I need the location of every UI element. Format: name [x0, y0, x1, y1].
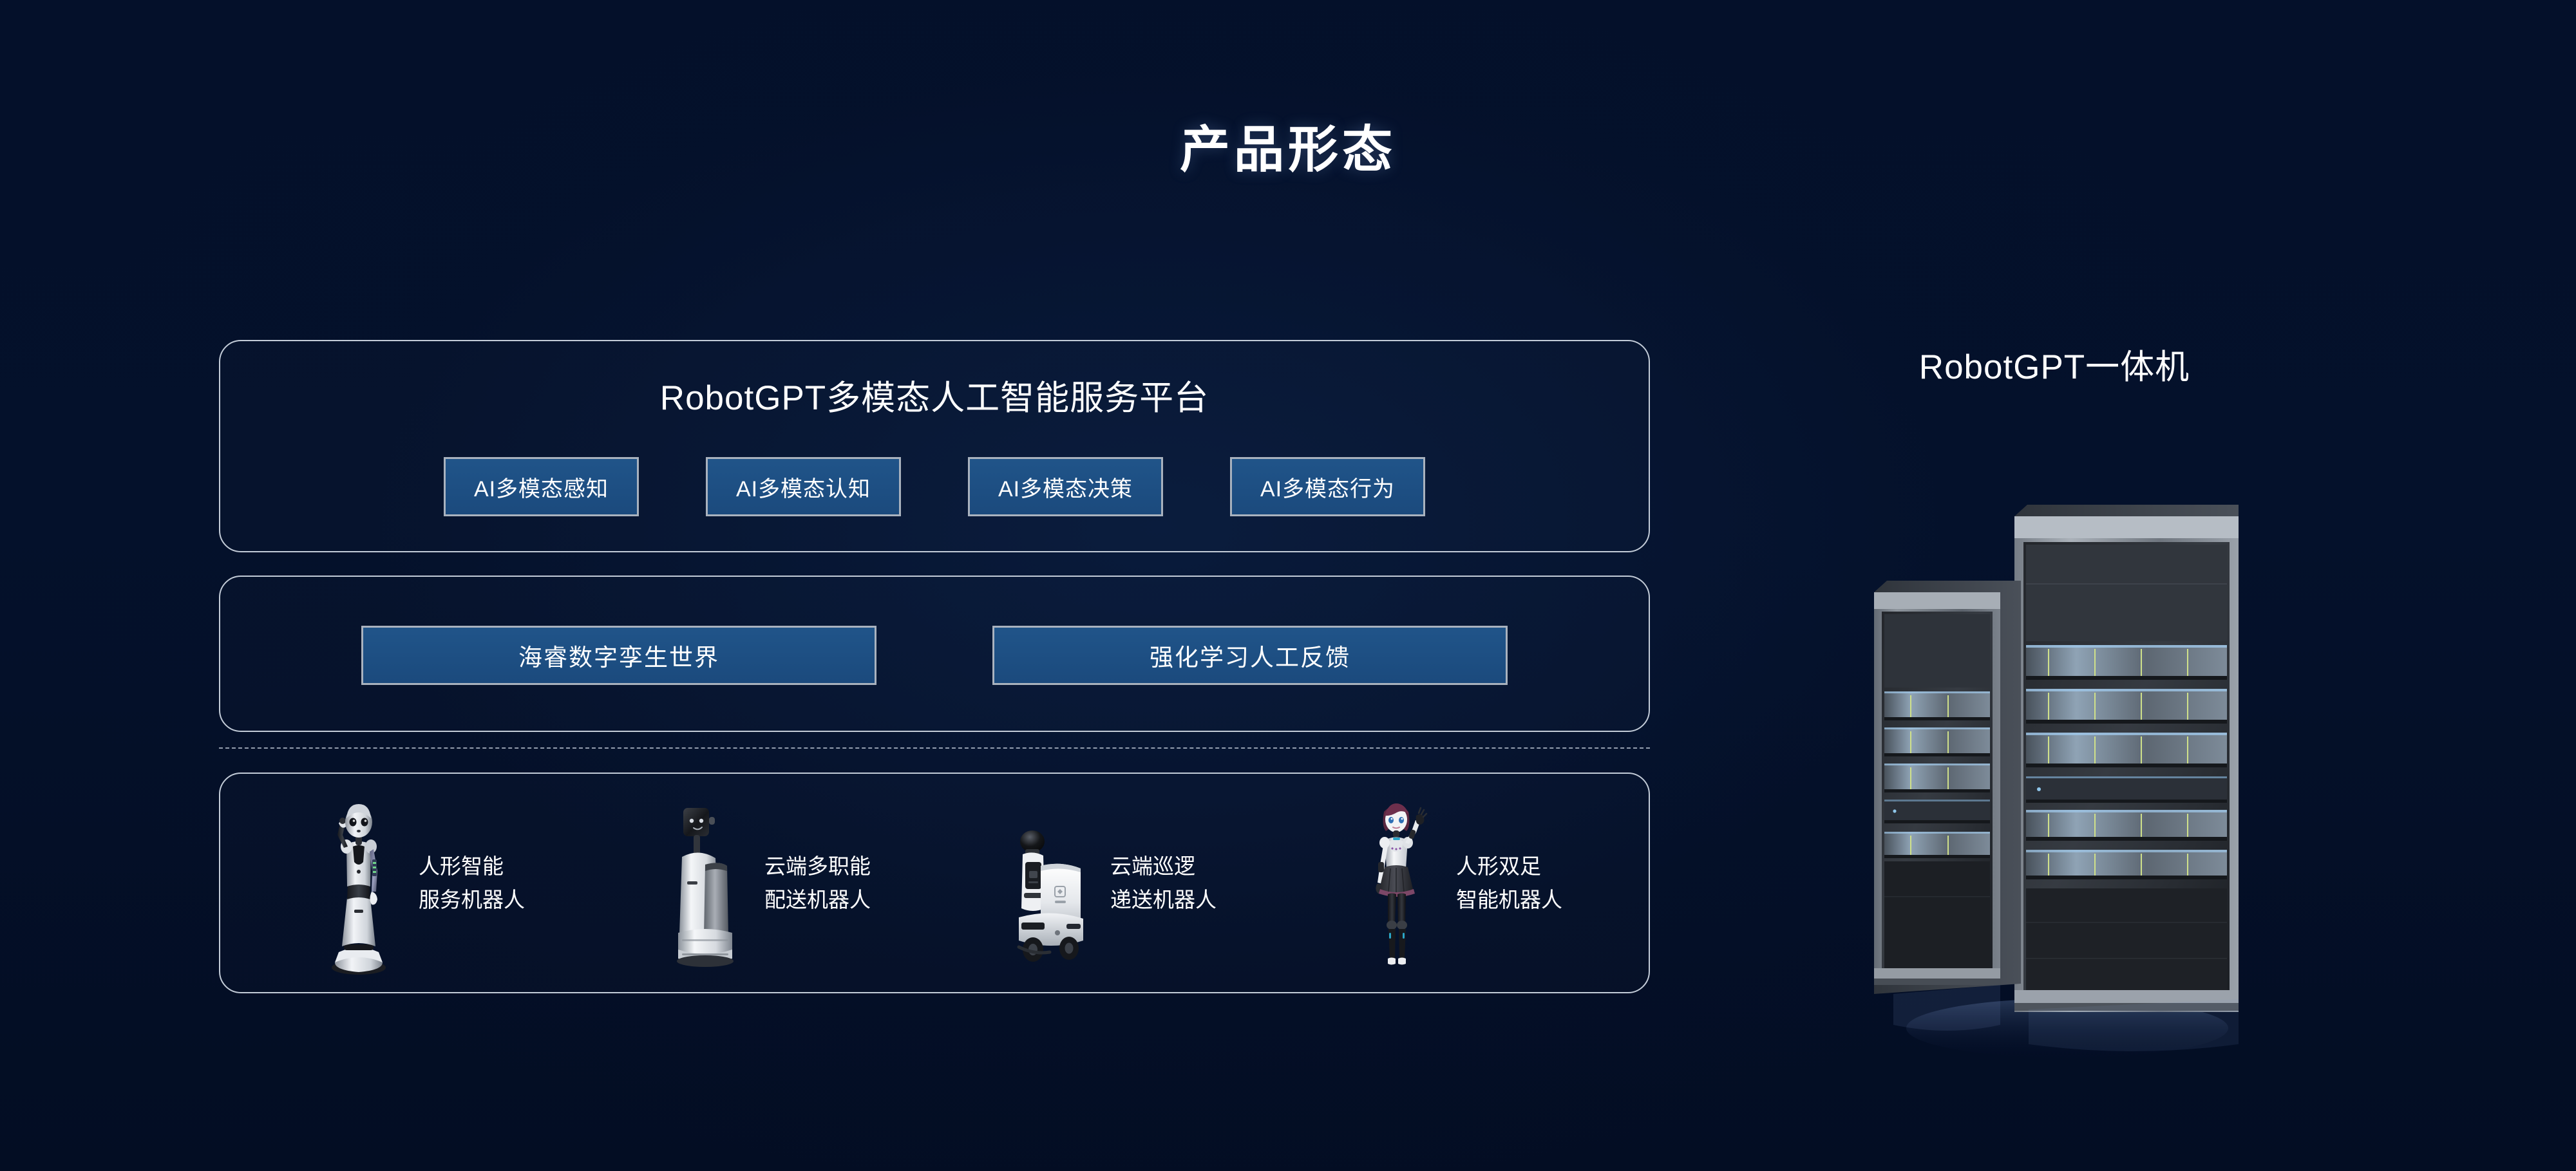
platform-stack: RobotGPT多模态人工智能服务平台 AI多模态感知 AI多模态认知 AI多模…: [219, 340, 1650, 993]
capability-chip-perception[interactable]: AI多模态感知: [444, 457, 639, 516]
humanoid-service-robot-icon: [310, 790, 407, 977]
product-caption: 云端多职能 配送机器人: [764, 850, 871, 915]
server-rack-short: [1874, 581, 2021, 994]
product-caption-line1: 云端多职能: [764, 850, 871, 883]
product-caption: 云端巡逻 递送机器人: [1110, 850, 1217, 915]
product-caption-line1: 云端巡逻: [1110, 850, 1217, 883]
page-title: 产品形态: [0, 109, 2576, 182]
slide-canvas: 产品形态 RobotGPT多模态人工智能服务平台 AI多模态感知 AI多模态认知…: [0, 0, 2576, 1171]
product-caption-line2: 配送机器人: [764, 883, 871, 916]
product-item-patrol-delivery[interactable]: 云端巡逻 递送机器人: [1002, 790, 1303, 977]
capability-chip-cognition[interactable]: AI多模态认知: [706, 457, 901, 516]
product-item-humanoid-service[interactable]: 人形智能 服务机器人: [310, 790, 611, 977]
server-rack-tall: [2014, 505, 2239, 1012]
product-caption-line2: 递送机器人: [1110, 883, 1217, 916]
product-item-bipedal-android[interactable]: 人形双足 智能机器人: [1348, 790, 1649, 977]
appliance-column: RobotGPT一体机: [1855, 340, 2370, 1076]
product-caption: 人形智能 服务机器人: [419, 850, 525, 915]
capability-chip-row: AI多模态感知 AI多模态认知 AI多模态决策 AI多模态行为: [220, 457, 1649, 516]
section-divider: [219, 747, 1650, 749]
product-item-cloud-delivery[interactable]: 云端多职能 配送机器人: [656, 790, 957, 977]
patrol-delivery-vehicle-icon: [1002, 790, 1099, 977]
platform-title: RobotGPT多模态人工智能服务平台: [220, 371, 1649, 420]
cloud-delivery-robot-icon: [656, 790, 753, 977]
product-caption: 人形双足 智能机器人: [1456, 850, 1562, 915]
bipedal-android-robot-icon: [1348, 790, 1444, 977]
capability-chip-behavior[interactable]: AI多模态行为: [1230, 457, 1425, 516]
foundation-panel: 海睿数字孪生世界 强化学习人工反馈: [219, 576, 1650, 732]
products-panel: 人形智能 服务机器人: [219, 773, 1650, 993]
product-caption-line2: 服务机器人: [419, 883, 525, 916]
foundation-bar-row: 海睿数字孪生世界 强化学习人工反馈: [220, 626, 1649, 685]
foundation-bar-digital-twin[interactable]: 海睿数字孪生世界: [361, 626, 876, 685]
product-caption-line1: 人形双足: [1456, 850, 1562, 883]
appliance-title: RobotGPT一体机: [1855, 340, 2254, 389]
foundation-bar-rlhf[interactable]: 强化学习人工反馈: [992, 626, 1508, 685]
product-row: 人形智能 服务机器人: [220, 774, 1649, 992]
platform-panel: RobotGPT多模态人工智能服务平台 AI多模态感知 AI多模态认知 AI多模…: [219, 340, 1650, 552]
product-caption-line1: 人形智能: [419, 850, 525, 883]
capability-chip-decision[interactable]: AI多模态决策: [968, 457, 1163, 516]
server-rack-pair-icon: [1855, 445, 2254, 1076]
product-caption-line2: 智能机器人: [1456, 883, 1562, 916]
